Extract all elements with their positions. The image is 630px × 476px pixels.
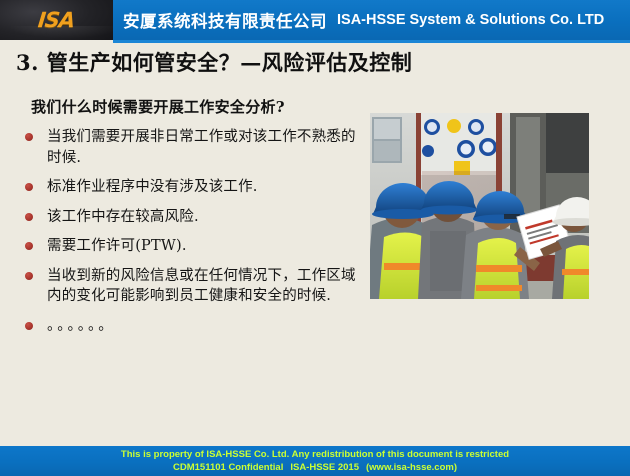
slide-canvas: ISA 安厦系统科技有限责任公司 ISA-HSSE System & Solut…	[0, 0, 630, 476]
header-underline	[113, 40, 630, 43]
bullet-list: 当我们需要开展非日常工作或对该工作不熟悉的时候. 标准作业程序中没有涉及该工作.…	[20, 127, 365, 337]
list-item: 当我们需要开展非日常工作或对该工作不熟悉的时候.	[20, 127, 365, 168]
list-item-text: 。。。。。。	[47, 318, 116, 334]
company-name-cn: 安厦系统科技有限责任公司	[123, 8, 327, 32]
list-item-text: 需要工作许可(PTW).	[47, 238, 187, 254]
bullet-dot-icon	[25, 183, 33, 191]
bullet-dot-icon	[25, 133, 33, 141]
list-item: 标准作业程序中没有涉及该工作.	[20, 177, 365, 198]
list-item: 需要工作许可(PTW).	[20, 236, 365, 257]
slide-footer: This is property of ISA-HSSE Co. Ltd. An…	[0, 446, 630, 476]
footer-org: ISA-HSSE 2015	[290, 462, 359, 473]
content-column: 我们什么时候需要开展工作安全分析? 当我们需要开展非日常工作或对该工作不熟悉的时…	[20, 96, 365, 346]
footer-doc-code: CDM151101 Confidential	[173, 462, 283, 473]
list-item-text: 当我们需要开展非日常工作或对该工作不熟悉的时候.	[47, 129, 356, 166]
list-item: 当收到新的风险信息或在任何情况下，工作区域内的变化可能影响到员工健康和安全的时候…	[20, 266, 365, 307]
subheading: 我们什么时候需要开展工作安全分析?	[31, 96, 365, 117]
bullet-dot-icon	[25, 213, 33, 221]
bullet-dot-icon	[25, 242, 33, 250]
footer-website-link[interactable]: (www.isa-hsse.com)	[366, 462, 457, 473]
bullet-dot-icon	[25, 272, 33, 280]
list-item-text: 该工作中存在较高风险.	[47, 209, 199, 225]
list-item-text: 当收到新的风险信息或在任何情况下，工作区域内的变化可能影响到员工健康和安全的时候…	[47, 268, 356, 305]
slide-header: ISA 安厦系统科技有限责任公司 ISA-HSSE System & Solut…	[0, 0, 630, 40]
company-name-en: ISA-HSSE System & Solutions Co. LTD	[337, 12, 604, 28]
footer-copyright-line: This is property of ISA-HSSE Co. Ltd. An…	[121, 449, 509, 461]
footer-meta-line: CDM151101 ConfidentialISA-HSSE 2015(www.…	[173, 462, 457, 474]
list-item-text: 标准作业程序中没有涉及该工作.	[47, 179, 258, 195]
header-title-band: 安厦系统科技有限责任公司 ISA-HSSE System & Solutions…	[113, 0, 630, 40]
logo-band: ISA	[0, 0, 113, 40]
list-item: 该工作中存在较高风险.	[20, 207, 365, 228]
bullet-dot-icon	[25, 322, 33, 330]
isa-logo-icon: ISA	[37, 10, 75, 31]
site-photo-graphic	[370, 113, 589, 299]
list-item: 。。。。。。	[20, 316, 365, 337]
site-photo	[370, 113, 589, 299]
page-title: 3. 管生产如何管安全？—风险评估及控制	[16, 47, 412, 77]
